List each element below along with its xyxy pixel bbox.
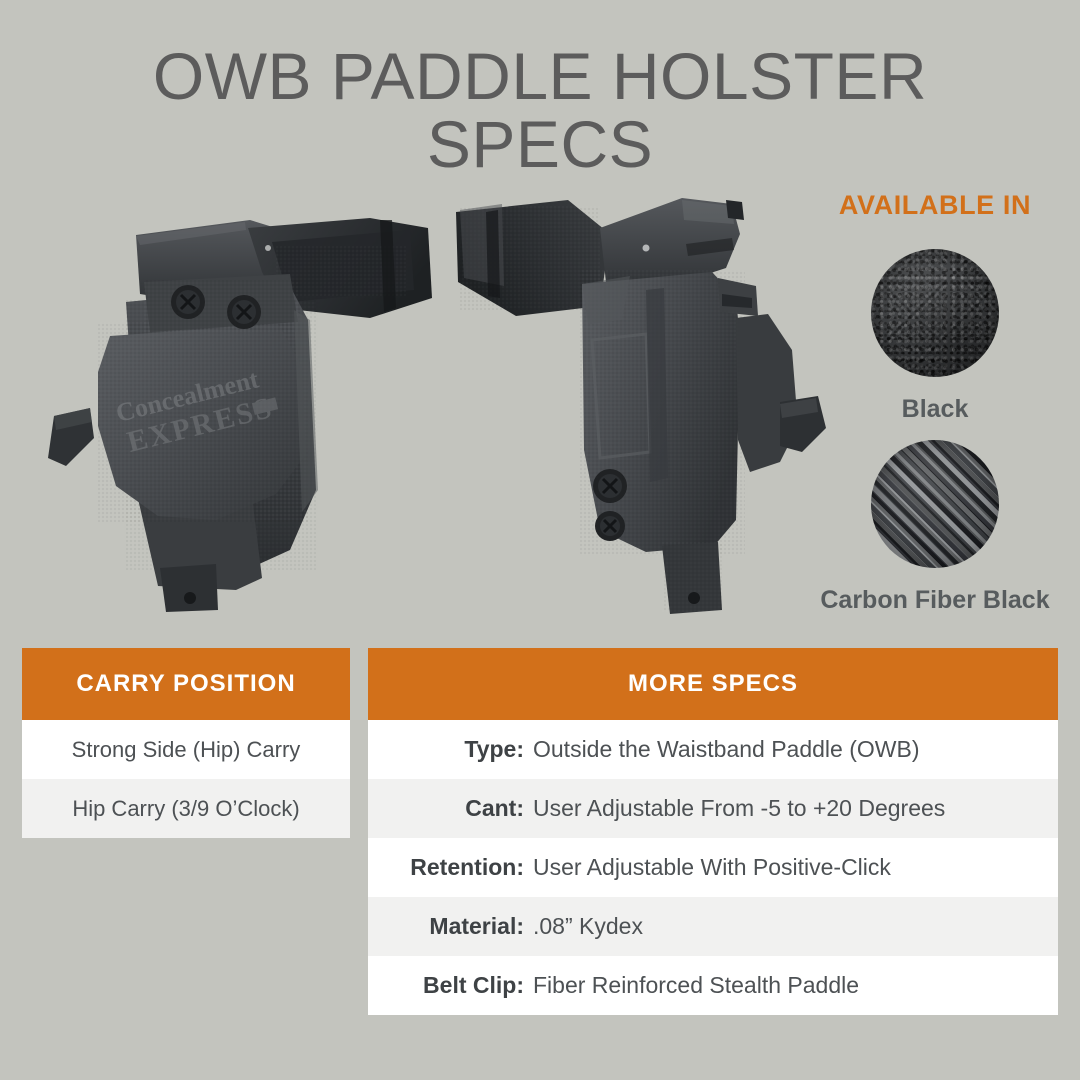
available-in-heading: AVAILABLE IN <box>800 190 1070 221</box>
spec-label-type: Type: <box>368 736 533 763</box>
spec-value-retention: User Adjustable With Positive-Click <box>533 854 1058 881</box>
spec-value-type: Outside the Waistband Paddle (OWB) <box>533 736 1058 763</box>
more-specs-header: MORE SPECS <box>368 648 1058 720</box>
spec-value-belt-clip: Fiber Reinforced Stealth Paddle <box>533 972 1058 999</box>
black-swatch-label: Black <box>800 395 1070 424</box>
page-title: OWB PADDLE HOLSTER SPECS <box>0 42 1080 178</box>
paddle-screw-upper <box>171 285 205 319</box>
page-title-line-2: SPECS <box>0 110 1080 178</box>
carry-position-value: Hip Carry (3/9 O’Clock) <box>72 796 299 822</box>
spec-value-cant: User Adjustable From -5 to +20 Degrees <box>533 795 1058 822</box>
carry-position-value: Strong Side (Hip) Carry <box>72 737 301 763</box>
table-row: Belt Clip: Fiber Reinforced Stealth Padd… <box>368 956 1058 1015</box>
available-in-section: AVAILABLE IN Black Carbon Fiber Black <box>800 190 1070 631</box>
carry-position-table: CARRY POSITION Strong Side (Hip) Carry H… <box>22 648 350 838</box>
spec-value-material: .08” Kydex <box>533 913 1058 940</box>
holster-front-view-image <box>450 190 840 620</box>
spec-label-material: Material: <box>368 913 533 940</box>
page-title-line-1: OWB PADDLE HOLSTER <box>0 42 1080 110</box>
color-option-carbon-fiber-black[interactable]: Carbon Fiber Black <box>800 440 1070 615</box>
retention-screw-lower <box>595 511 625 541</box>
table-row: Hip Carry (3/9 O’Clock) <box>22 779 350 838</box>
carbon-fiber-swatch-icon[interactable] <box>871 440 999 568</box>
table-row: Material: .08” Kydex <box>368 897 1058 956</box>
table-row: Cant: User Adjustable From -5 to +20 Deg… <box>368 779 1058 838</box>
carbon-fiber-swatch-label: Carbon Fiber Black <box>800 586 1070 615</box>
holster-rear-view-image: Concealment EXPRESS <box>40 190 450 620</box>
table-row: Strong Side (Hip) Carry <box>22 720 350 779</box>
more-specs-table: MORE SPECS Type: Outside the Waistband P… <box>368 648 1058 1015</box>
black-swatch-icon[interactable] <box>871 249 999 377</box>
table-row: Type: Outside the Waistband Paddle (OWB) <box>368 720 1058 779</box>
spec-label-cant: Cant: <box>368 795 533 822</box>
retention-screw-upper <box>593 469 627 503</box>
spec-label-retention: Retention: <box>368 854 533 881</box>
spec-label-belt-clip: Belt Clip: <box>368 972 533 999</box>
carry-position-header: CARRY POSITION <box>22 648 350 720</box>
paddle-screw-lower <box>227 295 261 329</box>
color-option-black[interactable]: Black <box>800 249 1070 424</box>
table-row: Retention: User Adjustable With Positive… <box>368 838 1058 897</box>
